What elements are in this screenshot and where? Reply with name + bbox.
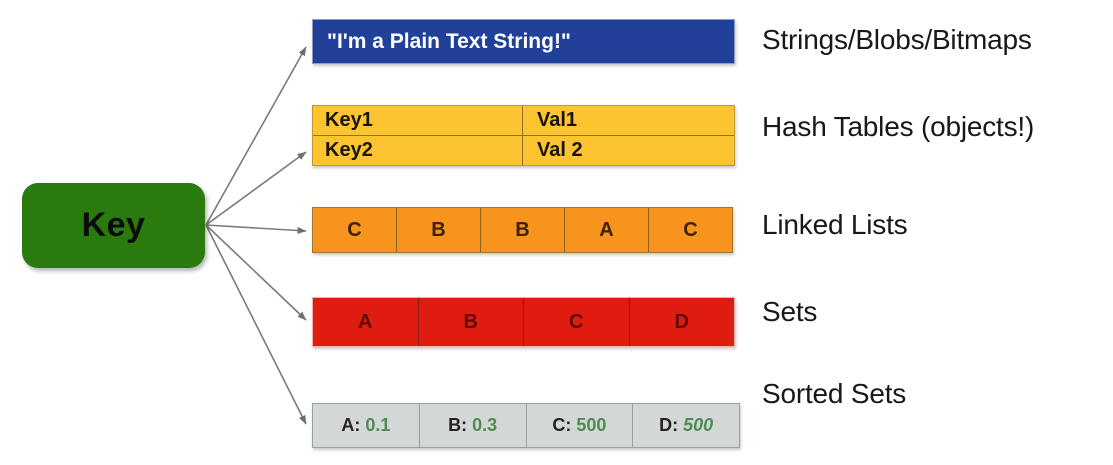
sorted-set-item: C: 500 — [526, 404, 633, 447]
connector-to-sets — [206, 225, 306, 320]
string-value: "I'm a Plain Text String!" — [313, 20, 734, 63]
sorted-set-item: A: 0.1 — [313, 404, 419, 447]
set-item: B — [418, 298, 524, 346]
hash-row: Key2 Val 2 — [313, 135, 734, 165]
set-item: D — [629, 298, 735, 346]
sorted-set-member: B: — [448, 415, 467, 436]
hash-key-cell: Key2 — [313, 136, 522, 165]
sorted-set-item: D: 500 — [632, 404, 739, 447]
hash-table-box: Key1 Val1 Key2 Val 2 — [312, 105, 735, 166]
connector-to-hash — [206, 152, 306, 225]
sorted-set-score: 0.1 — [365, 415, 390, 436]
set-item: C — [523, 298, 629, 346]
sorted-set-score: 0.3 — [472, 415, 497, 436]
key-node: Key — [22, 183, 205, 268]
hash-key-cell: Key1 — [313, 106, 522, 135]
sorted-set-score: 500 — [683, 415, 713, 436]
list-item: C — [313, 208, 396, 252]
list-item: B — [480, 208, 564, 252]
hash-value-cell: Val 2 — [522, 136, 734, 165]
type-label-strings: Strings/Blobs/Bitmaps — [762, 24, 1032, 56]
diagram-canvas: Key "I'm a Plain Text String!" Key1 Val1… — [0, 0, 1113, 465]
linked-list-box: C B B A C — [312, 207, 733, 253]
type-label-sets: Sets — [762, 296, 817, 328]
sorted-set-member: C: — [552, 415, 571, 436]
type-label-sorted-sets: Sorted Sets — [762, 378, 906, 410]
list-item: C — [648, 208, 732, 252]
sorted-set-box: A: 0.1 B: 0.3 C: 500 D: 500 — [312, 403, 740, 448]
set-box: A B C D — [312, 297, 735, 347]
connector-to-strings — [206, 47, 306, 225]
list-item: A — [564, 208, 648, 252]
hash-row: Key1 Val1 — [313, 106, 734, 135]
hash-value-cell: Val1 — [522, 106, 734, 135]
strings-box: "I'm a Plain Text String!" — [312, 19, 735, 64]
connector-to-sorted-sets — [206, 225, 306, 424]
set-item: A — [313, 298, 418, 346]
connector-to-list — [206, 225, 306, 231]
list-item: B — [396, 208, 480, 252]
sorted-set-member: D: — [659, 415, 678, 436]
sorted-set-item: B: 0.3 — [419, 404, 526, 447]
type-label-hash-tables: Hash Tables (objects!) — [762, 111, 1034, 143]
sorted-set-member: A: — [341, 415, 360, 436]
sorted-set-score: 500 — [576, 415, 606, 436]
type-label-linked-lists: Linked Lists — [762, 209, 907, 241]
key-node-label: Key — [82, 206, 146, 245]
